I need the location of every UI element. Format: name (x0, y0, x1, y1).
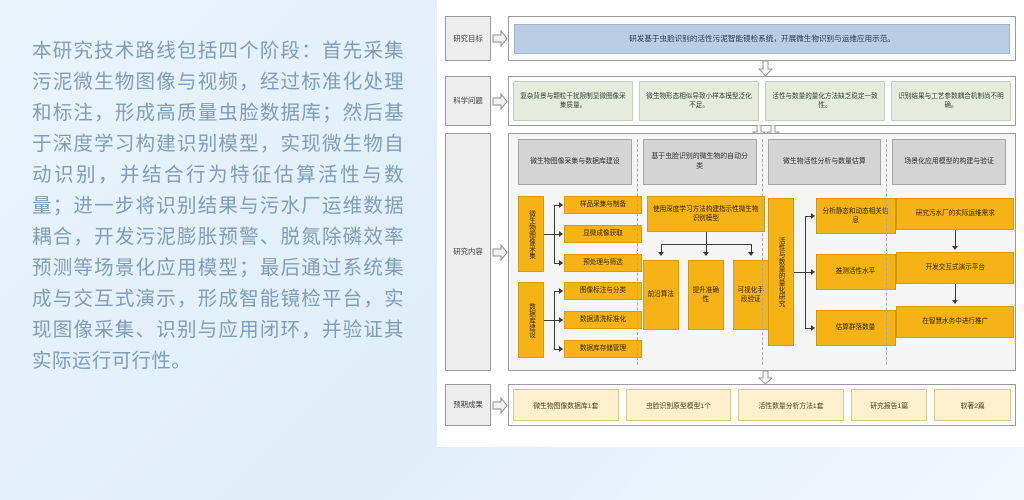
arrow-head (748, 252, 754, 256)
group-title-database-construction: 数据库建设 (518, 282, 544, 358)
content-column-activity-analysis: 微生物活性分析与数量估算 活性与数量的量化研究 分析静态和动态相关信息 推测活性… (762, 139, 887, 365)
arrow-head (559, 346, 563, 352)
outcome-item: 虫脸识别原型模型1个 (626, 389, 732, 421)
connector-line (544, 234, 554, 235)
column-heading: 场景化应用模型的构建与验证 (892, 139, 1006, 185)
content-column-scenario-application: 场景化应用模型的构建与验证 研究污水厂的实际运维需求 开发交互式演示平台 在智慧… (886, 139, 1011, 365)
leaf-box: 估算群落数量 (816, 310, 896, 346)
leaf-box: 推测活性水平 (816, 254, 896, 290)
technical-roadmap-diagram: 研究目标 研发基于虫脸识别的活性污泥智能镜检系统，开展微生物识别与运维应用示范。… (437, 0, 1024, 447)
arrow-head (559, 260, 563, 266)
arrow-head (811, 325, 815, 331)
leaf-box: 提升准确性 (688, 260, 724, 330)
scientific-question-item: 活性与数量的量化方法缺乏稳定一致性。 (765, 81, 885, 121)
arrow-head (952, 300, 958, 304)
stage-label-research-goal: 研究目标 (445, 16, 491, 61)
scientific-questions-list: 复杂背景与颗粒干扰限制显微图像采集质量。 微生物形态相似导致小样本模型泛化不足。… (509, 77, 1015, 125)
narrative-text: 本研究技术路线包括四个阶段：首先采集污泥微生物图像与视频，经过标准化处理和标注，… (32, 36, 404, 377)
outcome-item: 微生物图像数据库1套 (513, 389, 619, 421)
arrow-to-expected-outcomes (491, 384, 508, 426)
arrow-head (559, 231, 563, 237)
chain-box: 研究污水厂的实际运维需求 (896, 198, 1014, 230)
arrow-head (811, 213, 815, 219)
row-research-content: 研究内容 微生物图像采集与数据库建设 微生物图像采集 样品采集与制备 显微成像获… (445, 133, 1016, 371)
connector-line (661, 244, 662, 252)
connector-line (544, 320, 554, 321)
arrow-to-research-content (491, 133, 508, 371)
connector-goal-to-science (755, 60, 781, 77)
outcome-item: 活性数量分析方法1套 (738, 389, 844, 421)
arrow-head (559, 288, 563, 294)
research-content-columns: 微生物图像采集与数据库建设 微生物图像采集 样品采集与制备 显微成像获取 预处理… (509, 134, 1015, 370)
model-box: 使用深度学习方法构建指示性微生物识别模型 (647, 196, 765, 232)
group-title-activity-quantification: 活性与数量的量化研究 (768, 198, 794, 346)
leaf-box: 图像标注与分类 (564, 282, 642, 300)
leaf-box: 数据清洗标准化 (564, 311, 642, 329)
arrow-head (658, 252, 664, 256)
chain-box: 在智慧水务中进行推广 (896, 306, 1014, 338)
outcome-item: 软著2篇 (934, 389, 1011, 421)
leaf-box: 显微成像获取 (564, 225, 642, 243)
research-goal-statement: 研发基于虫脸识别的活性污泥智能镜检系统，开展微生物识别与运维应用示范。 (514, 24, 1010, 54)
stage-label-research-content: 研究内容 (445, 133, 491, 371)
chain-box: 开发交互式演示平台 (896, 252, 1014, 284)
leaf-box: 数据库存储管理 (564, 340, 642, 358)
expected-outcomes-list: 微生物图像数据库1套 虫脸识别原型模型1个 活性数量分析方法1套 研究报告1篇 … (509, 385, 1015, 425)
content-column-auto-classification: 基于虫脸识别的微生物的自动分类 使用深度学习方法构建指示性微生物识别模型 前沿算… (637, 139, 762, 365)
scientific-question-item: 识别结果与工艺参数耦合机制尚不明确。 (891, 81, 1011, 121)
arrow-head (811, 269, 815, 275)
arrow-head (952, 246, 958, 250)
connector-line (706, 244, 707, 252)
row-expected-outcomes: 预期成果 微生物图像数据库1套 虫脸识别原型模型1个 活性数量分析方法1套 研究… (445, 384, 1016, 426)
column-body: 研究污水厂的实际运维需求 开发交互式演示平台 在智慧水务中进行推广 (892, 194, 1006, 365)
group-title-microbe-image-acquisition: 微生物图像采集 (518, 196, 544, 272)
column-body: 微生物图像采集 样品采集与制备 显微成像获取 预处理与筛选 数据库建 (518, 194, 632, 365)
arrow-head (559, 202, 563, 208)
stage-label-scientific-questions: 科学问题 (445, 76, 491, 126)
column-heading: 微生物活性分析与数量估算 (768, 139, 882, 185)
arrow-head (703, 252, 709, 256)
arrow-to-scientific-questions (491, 76, 508, 126)
arrow-to-research-goal (491, 16, 508, 61)
column-heading: 基于虫脸识别的微生物的自动分类 (643, 139, 757, 185)
scientific-question-item: 微生物形态相似导致小样本模型泛化不足。 (639, 81, 759, 121)
column-body: 活性与数量的量化研究 分析静态和动态相关信息 推测活性水平 估算群落数量 (768, 194, 882, 365)
scientific-question-item: 复杂背景与颗粒干扰限制显微图像采集质量。 (513, 81, 633, 121)
stage-label-expected-outcomes: 预期成果 (445, 384, 491, 426)
row-research-goal: 研究目标 研发基于虫脸识别的活性污泥智能镜检系统，开展微生物识别与运维应用示范。 (445, 16, 1016, 61)
outcome-item: 研究报告1篇 (851, 389, 928, 421)
connector-line (706, 232, 707, 244)
connector-line (751, 244, 752, 252)
column-heading: 微生物图像采集与数据库建设 (518, 139, 632, 185)
leaf-box: 前沿算法 (643, 260, 679, 330)
arrow-head (559, 317, 563, 323)
content-column-image-acquisition: 微生物图像采集与数据库建设 微生物图像采集 样品采集与制备 显微成像获取 预处理… (513, 139, 637, 365)
leaf-box: 预处理与筛选 (564, 254, 642, 272)
connector-content-to-outcome (755, 370, 781, 385)
leaf-box: 分析静态和动态相关信息 (816, 198, 896, 234)
leaf-box: 样品采集与制备 (564, 196, 642, 214)
research-content-outline: 微生物图像采集与数据库建设 微生物图像采集 样品采集与制备 显微成像获取 预处理… (508, 133, 1016, 371)
research-goal-outline: 研发基于虫脸识别的活性污泥智能镜检系统，开展微生物识别与运维应用示范。 (508, 16, 1016, 61)
column-body: 使用深度学习方法构建指示性微生物识别模型 前沿算法 提升准确性 可视化手段验证 (643, 194, 757, 365)
row-scientific-questions: 科学问题 复杂背景与颗粒干扰限制显微图像采集质量。 微生物形态相似导致小样本模型… (445, 76, 1016, 126)
scientific-questions-outline: 复杂背景与颗粒干扰限制显微图像采集质量。 微生物形态相似导致小样本模型泛化不足。… (508, 76, 1016, 126)
expected-outcomes-outline: 微生物图像数据库1套 虫脸识别原型模型1个 活性数量分析方法1套 研究报告1篇 … (508, 384, 1016, 426)
connector-line (794, 272, 805, 273)
